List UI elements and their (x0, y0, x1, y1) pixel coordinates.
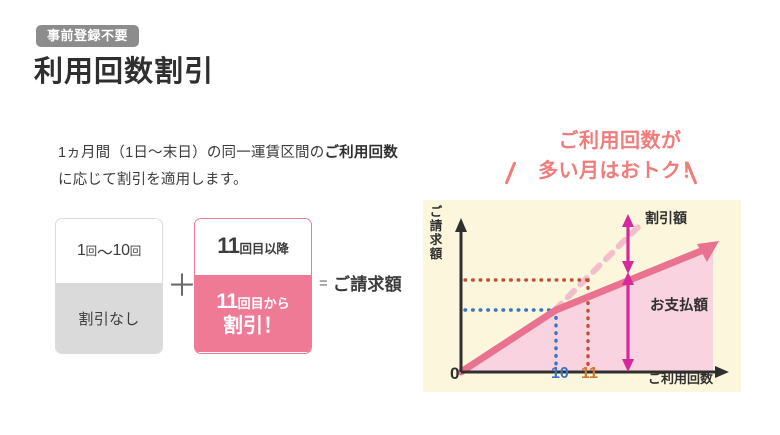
promo-headline-line2: 多い月はおトク！ (470, 156, 770, 186)
chart-y-axis-arrowhead-icon (455, 218, 467, 232)
chart-x-axis-label: ご利用回数 (648, 368, 713, 387)
tier-discount-from-line: 11回目から (216, 290, 289, 313)
chart-label-payment-amount: お支払額 (650, 294, 708, 315)
tier-box-discounted: 11回目以降 11回目から 割引！ (194, 218, 312, 354)
tier-discount-from-unit: 回目から (238, 296, 290, 311)
page-title: 利用回数割引 (34, 55, 214, 90)
tier-threshold-unit: 回目以降 (240, 238, 289, 257)
description-line2-bold: 用回数 (354, 145, 398, 161)
tier-range-num1: 1 (77, 242, 86, 260)
tier-range-tilde: 〜 (97, 239, 113, 263)
tier-range-unit2: 回 (130, 243, 141, 259)
tier-discount-callout: 11回目から 割引！ (195, 275, 311, 352)
tier-range-num2: 10 (113, 242, 130, 260)
tier-discount-from-num: 11 (216, 290, 237, 313)
chart-x-tick-11: 11 (581, 365, 598, 383)
status-badge: 事前登録不要 (36, 25, 139, 47)
tier-status-no-discount: 割引なし (56, 283, 162, 354)
tier-discount-emphasis: 割引！ (223, 315, 283, 337)
description-text: 1ヵ月間（1日〜末日）の同一運賃区間のご利用回数に応じて割引を適用します。 (58, 140, 398, 194)
promo-headline: ご利用回数が 多い月はおトク！ (470, 126, 770, 186)
tier-threshold-num: 11 (217, 233, 239, 259)
description-line1-plain: 1ヵ月間（1日〜末日）の同一運賃区間の (58, 145, 324, 161)
page-root: 事前登録不要 利用回数割引 1ヵ月間（1日〜末日）の同一運賃区間のご利用回数に応… (0, 0, 780, 435)
chart-y-axis-label: ご請求額 (428, 205, 444, 261)
tier-box-no-discount: 1回〜10回 割引なし (55, 218, 163, 354)
chart-x-tick-10: 10 (551, 365, 569, 383)
description-line2-plain: に応じて割引を適用します。 (58, 172, 248, 188)
chart-label-discount-amount: 割引額 (645, 208, 687, 228)
description-line1-bold: ご利 (324, 145, 353, 161)
tier-range-label: 1回〜10回 (56, 219, 162, 283)
chart-x-tick-0: 0 (450, 364, 459, 384)
tier-threshold-label: 11回目以降 (195, 219, 311, 275)
pricing-formula-diagram: 1回〜10回 割引なし ＋ 11回目以降 11回目から 割引！ = ご請求額 (55, 218, 415, 368)
formula-result-label: ご請求額 (333, 270, 402, 295)
equals-sign-icon: = (319, 276, 328, 291)
promo-headline-line1: ご利用回数が (559, 130, 682, 152)
chart-bracket-discount-arrow-up-icon (622, 214, 634, 227)
chart-x-axis-arrowhead-icon (715, 366, 729, 378)
tier-range-unit1: 回 (86, 243, 97, 259)
plus-sign-icon: ＋ (167, 272, 197, 302)
